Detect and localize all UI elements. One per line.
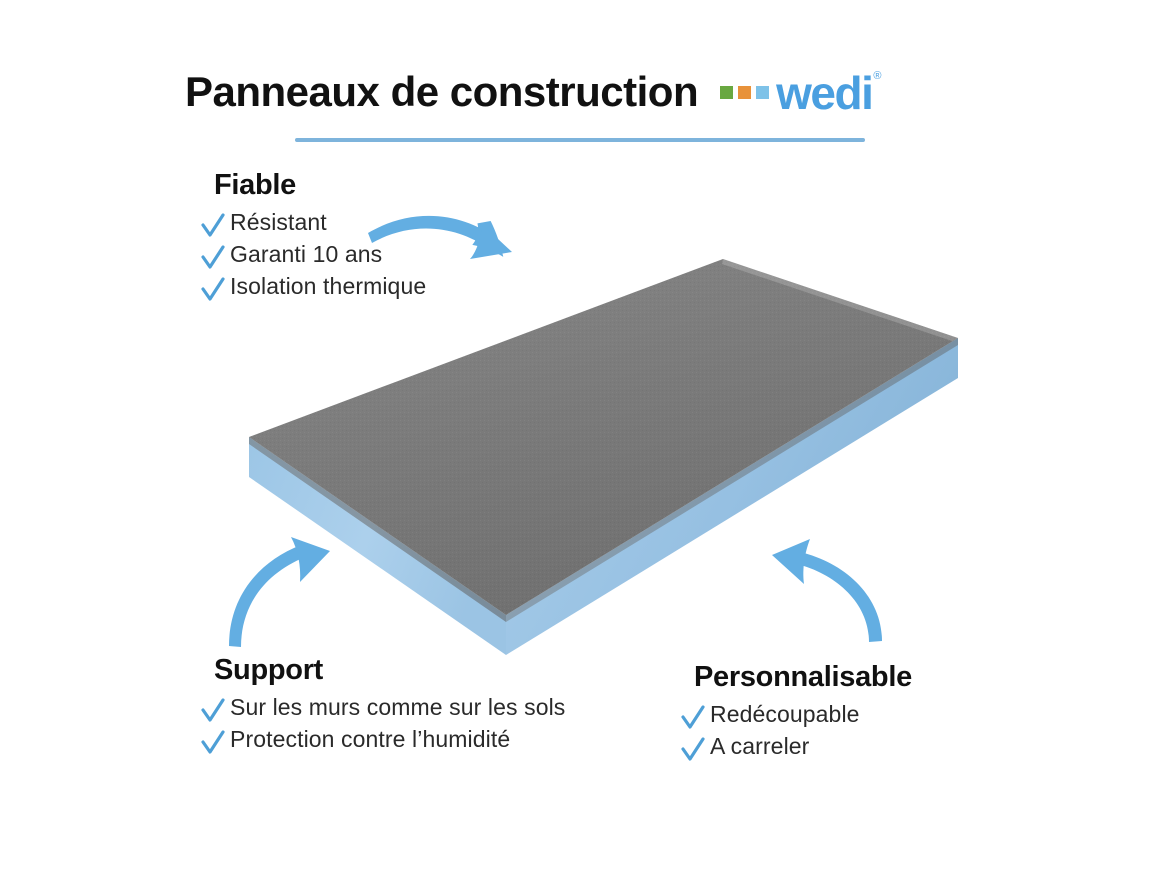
- list-item: Résistant: [200, 208, 560, 238]
- poster-canvas: Panneaux de construction wedi® Fiable Ré…: [0, 0, 1162, 871]
- feature-text: A carreler: [710, 732, 809, 761]
- check-icon: [200, 243, 226, 273]
- feature-text: Isolation thermique: [230, 272, 426, 301]
- feature-block-personnalisable: Personnalisable Redécoupable A carreler: [680, 662, 1020, 764]
- list-item: Sur les murs comme sur les sols: [200, 693, 580, 723]
- check-icon: [680, 735, 706, 765]
- logo-square-blue-icon: [756, 86, 769, 99]
- wedi-logo: wedi®: [720, 73, 879, 114]
- board-rim-right: [506, 338, 958, 622]
- feature-text: Garanti 10 ans: [230, 240, 382, 269]
- header: Panneaux de construction wedi®: [185, 62, 985, 122]
- check-icon: [200, 211, 226, 241]
- block-title-fiable: Fiable: [214, 170, 560, 202]
- title-underline: [295, 138, 865, 142]
- list-item: Isolation thermique: [200, 272, 560, 302]
- feature-list-support: Sur les murs comme sur les sols Protecti…: [200, 693, 580, 755]
- logo-registered-mark: ®: [873, 70, 880, 82]
- board-edge-left: [249, 437, 506, 655]
- logo-square-orange-icon: [738, 86, 751, 99]
- block-title-personnalisable: Personnalisable: [694, 662, 1020, 694]
- feature-text: Résistant: [230, 208, 327, 237]
- arrow-personnalisable-icon: [772, 539, 882, 642]
- board-rim-left: [249, 437, 506, 622]
- logo-squares: [720, 86, 769, 99]
- board-top-highlight: [722, 259, 958, 341]
- list-item: Protection contre l’humidité: [200, 725, 580, 755]
- board-top-texture: [249, 259, 958, 615]
- list-item: Redécoupable: [680, 700, 1020, 730]
- check-icon: [200, 696, 226, 726]
- block-title-support: Support: [214, 655, 580, 687]
- feature-text: Redécoupable: [710, 700, 860, 729]
- board-top-face: [249, 259, 958, 615]
- feature-text: Protection contre l’humidité: [230, 725, 510, 754]
- logo-square-green-icon: [720, 86, 733, 99]
- feature-text: Sur les murs comme sur les sols: [230, 693, 565, 722]
- check-icon: [200, 728, 226, 758]
- check-icon: [200, 275, 226, 305]
- logo-word-text: wedi: [776, 67, 872, 119]
- check-icon: [680, 703, 706, 733]
- logo-wordmark: wedi®: [776, 73, 879, 114]
- arrow-support-icon: [229, 537, 330, 647]
- board-edge-right: [506, 338, 958, 655]
- feature-list-fiable: Résistant Garanti 10 ans Isolation therm…: [200, 208, 560, 302]
- feature-list-personnalisable: Redécoupable A carreler: [680, 700, 1020, 762]
- list-item: A carreler: [680, 732, 1020, 762]
- page-title: Panneaux de construction: [185, 71, 698, 113]
- list-item: Garanti 10 ans: [200, 240, 560, 270]
- feature-block-support: Support Sur les murs comme sur les sols …: [200, 655, 580, 757]
- feature-block-fiable: Fiable Résistant Garanti 10 ans Isolatio…: [200, 170, 560, 304]
